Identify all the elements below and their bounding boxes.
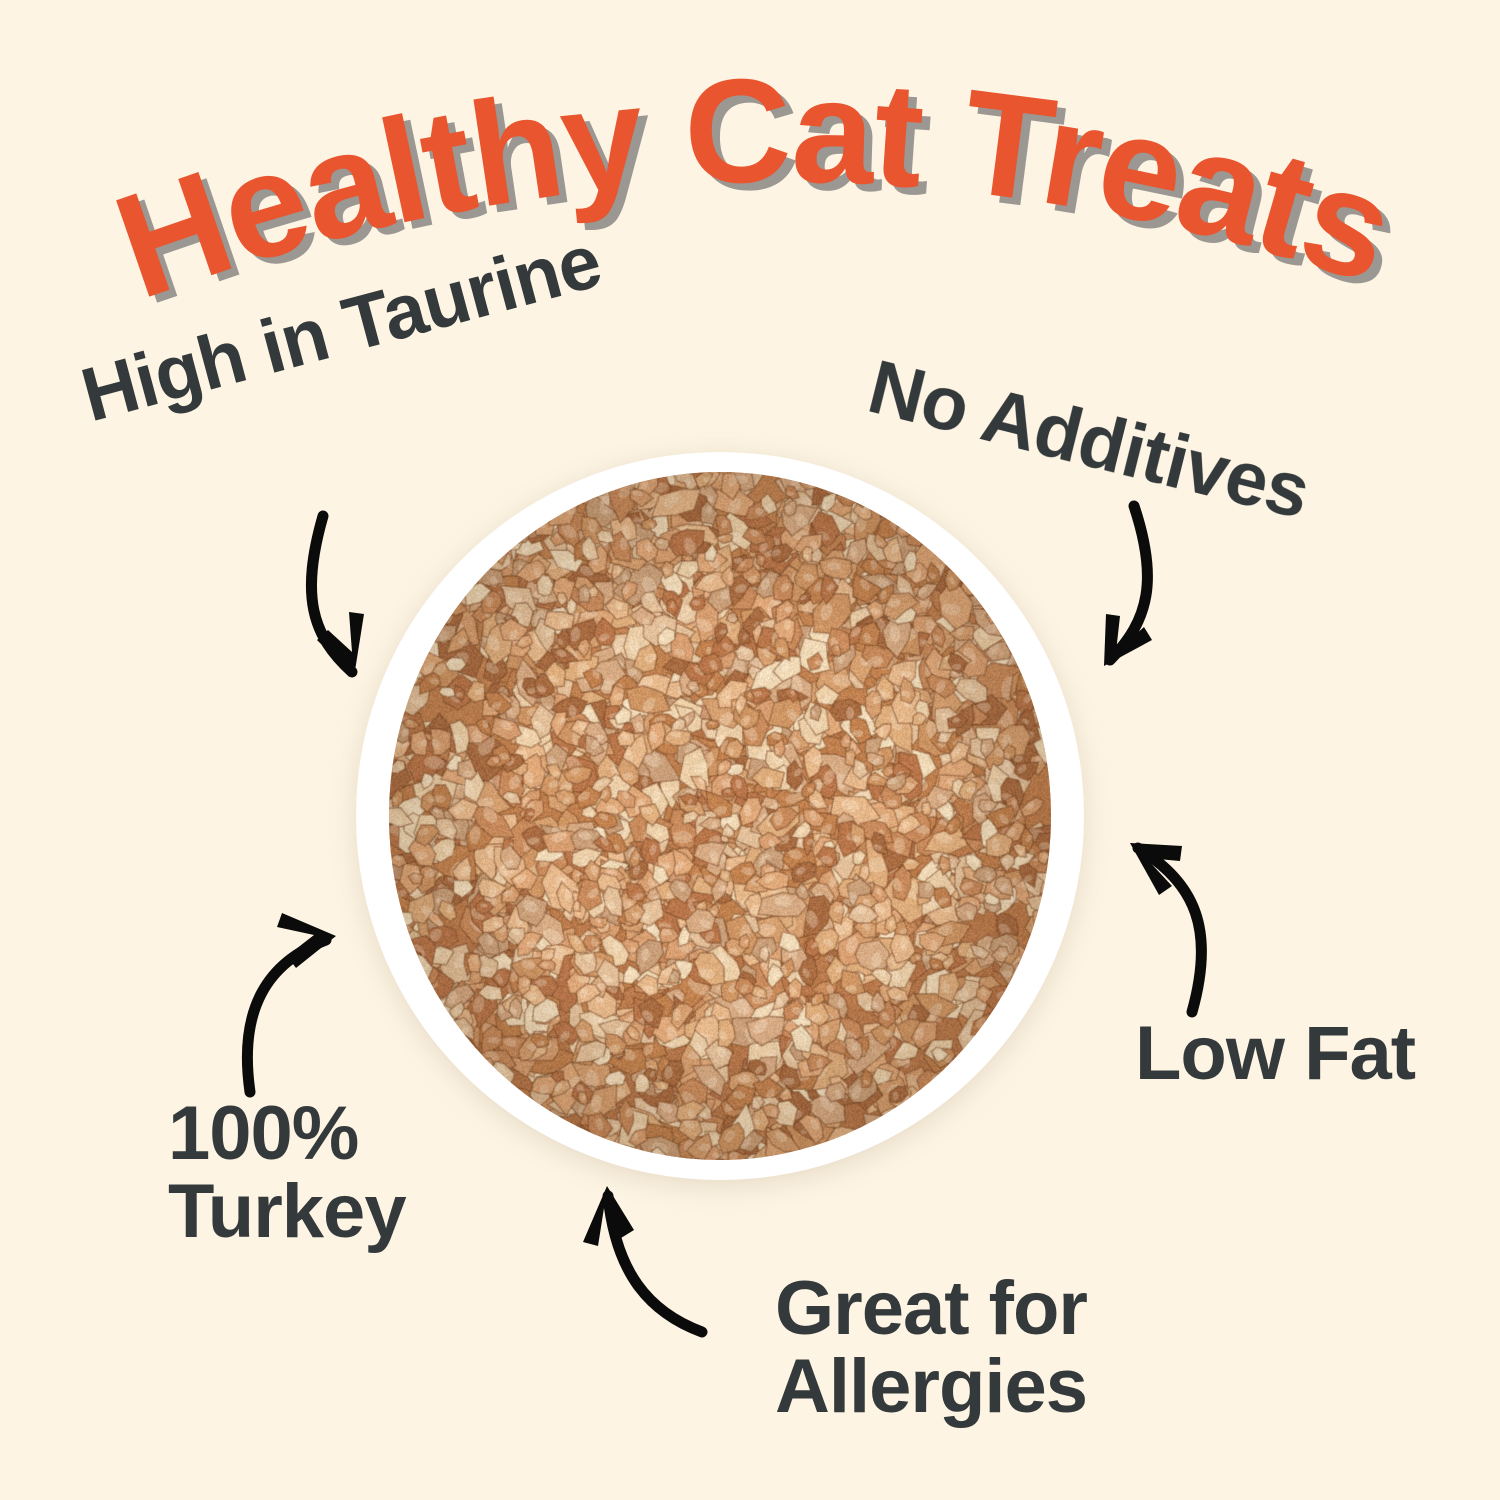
- arrow-allergies: [583, 1186, 702, 1332]
- infographic-canvas: Healthy Cat Treats Healthy Cat Treats Hi…: [0, 0, 1500, 1500]
- page-title: Healthy Cat Treats Healthy Cat Treats: [0, 40, 1500, 340]
- turkey-treats-photo: [389, 472, 1051, 1160]
- arrow-low-fat: [1130, 843, 1202, 1012]
- product-image-container: [356, 452, 1084, 1180]
- benefit-label-turkey-line1: 100%: [168, 1091, 358, 1176]
- benefit-label-turkey-line2: Turkey: [168, 1169, 406, 1254]
- benefit-label-allergies-line1: Great for: [775, 1266, 1087, 1351]
- benefit-label-allergies-line2: Allergies: [775, 1344, 1087, 1429]
- benefit-label-low-fat: Low Fat: [1135, 1015, 1415, 1093]
- arrow-turkey: [247, 913, 336, 1092]
- product-image-circle: [389, 472, 1051, 1160]
- benefit-label-turkey: 100%Turkey: [168, 1095, 406, 1250]
- benefit-label-allergies: Great forAllergies: [775, 1270, 1087, 1425]
- arrow-additives: [1104, 506, 1152, 666]
